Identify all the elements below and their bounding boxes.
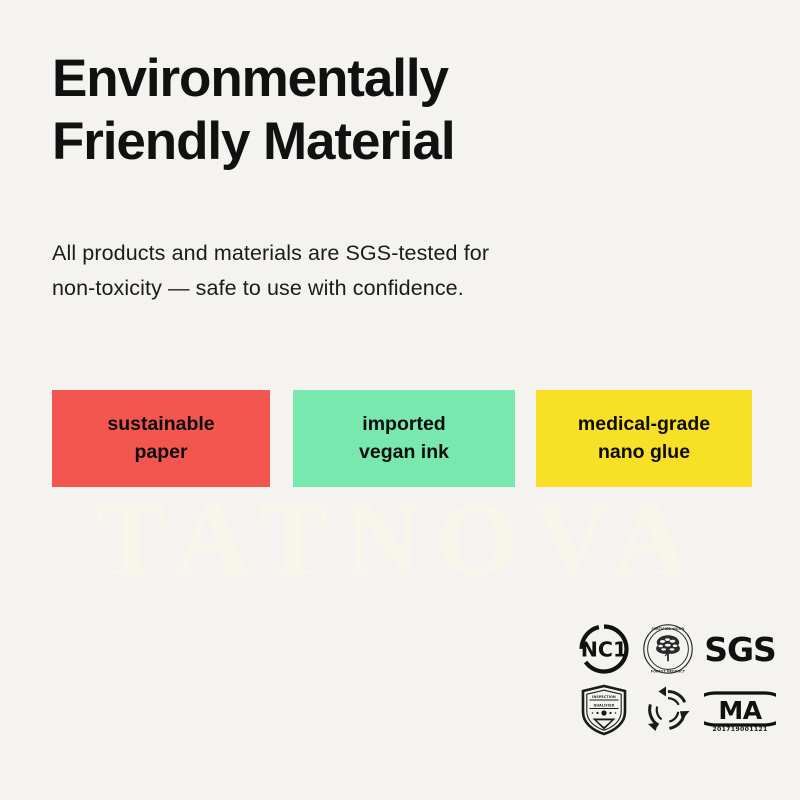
- certification-logo-group: NC1: [572, 618, 780, 740]
- shield-certification-icon: INSPECTION QUALIFIED: [579, 684, 629, 736]
- svg-text:MA: MA: [718, 696, 762, 725]
- recycle-certification-icon: [642, 684, 694, 736]
- nc1-certification-icon: NC1: [577, 622, 631, 676]
- svg-text:FOREST PRODUCT: FOREST PRODUCT: [651, 669, 686, 673]
- svg-text:NC1: NC1: [581, 638, 627, 662]
- badge-sustainable-paper: sustainable paper: [52, 390, 270, 487]
- page-title-line-1: Environmentally: [52, 48, 692, 111]
- brand-watermark: TATNOVA: [0, 486, 800, 591]
- svg-text:CERTIFIED WOOD: CERTIFIED WOOD: [652, 627, 685, 631]
- badge-sustainable-paper-line-1: sustainable: [107, 411, 214, 439]
- sgs-certification-label: SGS: [704, 633, 776, 666]
- page-title: Environmentally Friendly Material: [52, 48, 692, 173]
- ma-certification-icon: MA 201719001121: [704, 689, 776, 731]
- page-subtitle-line-2: non-toxicity — safe to use with confiden…: [52, 271, 672, 306]
- badge-medical-grade-nano-glue: medical-grade nano glue: [536, 390, 752, 487]
- material-badge-group: sustainable paper imported vegan ink med…: [52, 390, 752, 487]
- badge-imported-vegan-ink: imported vegan ink: [293, 390, 515, 487]
- page-subtitle: All products and materials are SGS-teste…: [52, 236, 672, 306]
- page-subtitle-line-1: All products and materials are SGS-teste…: [52, 236, 672, 271]
- badge-medical-grade-nano-glue-line-2: nano glue: [598, 439, 690, 467]
- page-title-line-2: Friendly Material: [52, 111, 692, 174]
- badge-medical-grade-nano-glue-line-1: medical-grade: [578, 411, 710, 439]
- badge-imported-vegan-ink-line-1: imported: [362, 411, 445, 439]
- sgs-certification-icon: SGS: [704, 633, 776, 666]
- svg-text:INSPECTION: INSPECTION: [592, 695, 616, 699]
- poster-canvas: TATNOVA Environmentally Friendly Materia…: [0, 0, 800, 800]
- svg-text:QUALIFIED: QUALIFIED: [594, 703, 615, 707]
- badge-imported-vegan-ink-line-2: vegan ink: [359, 439, 449, 467]
- ma-certification-number: 201719001121: [712, 726, 767, 733]
- tree-seal-certification-icon: CERTIFIED WOOD FOREST PRODUCT: [641, 622, 695, 676]
- badge-sustainable-paper-line-2: paper: [134, 439, 187, 467]
